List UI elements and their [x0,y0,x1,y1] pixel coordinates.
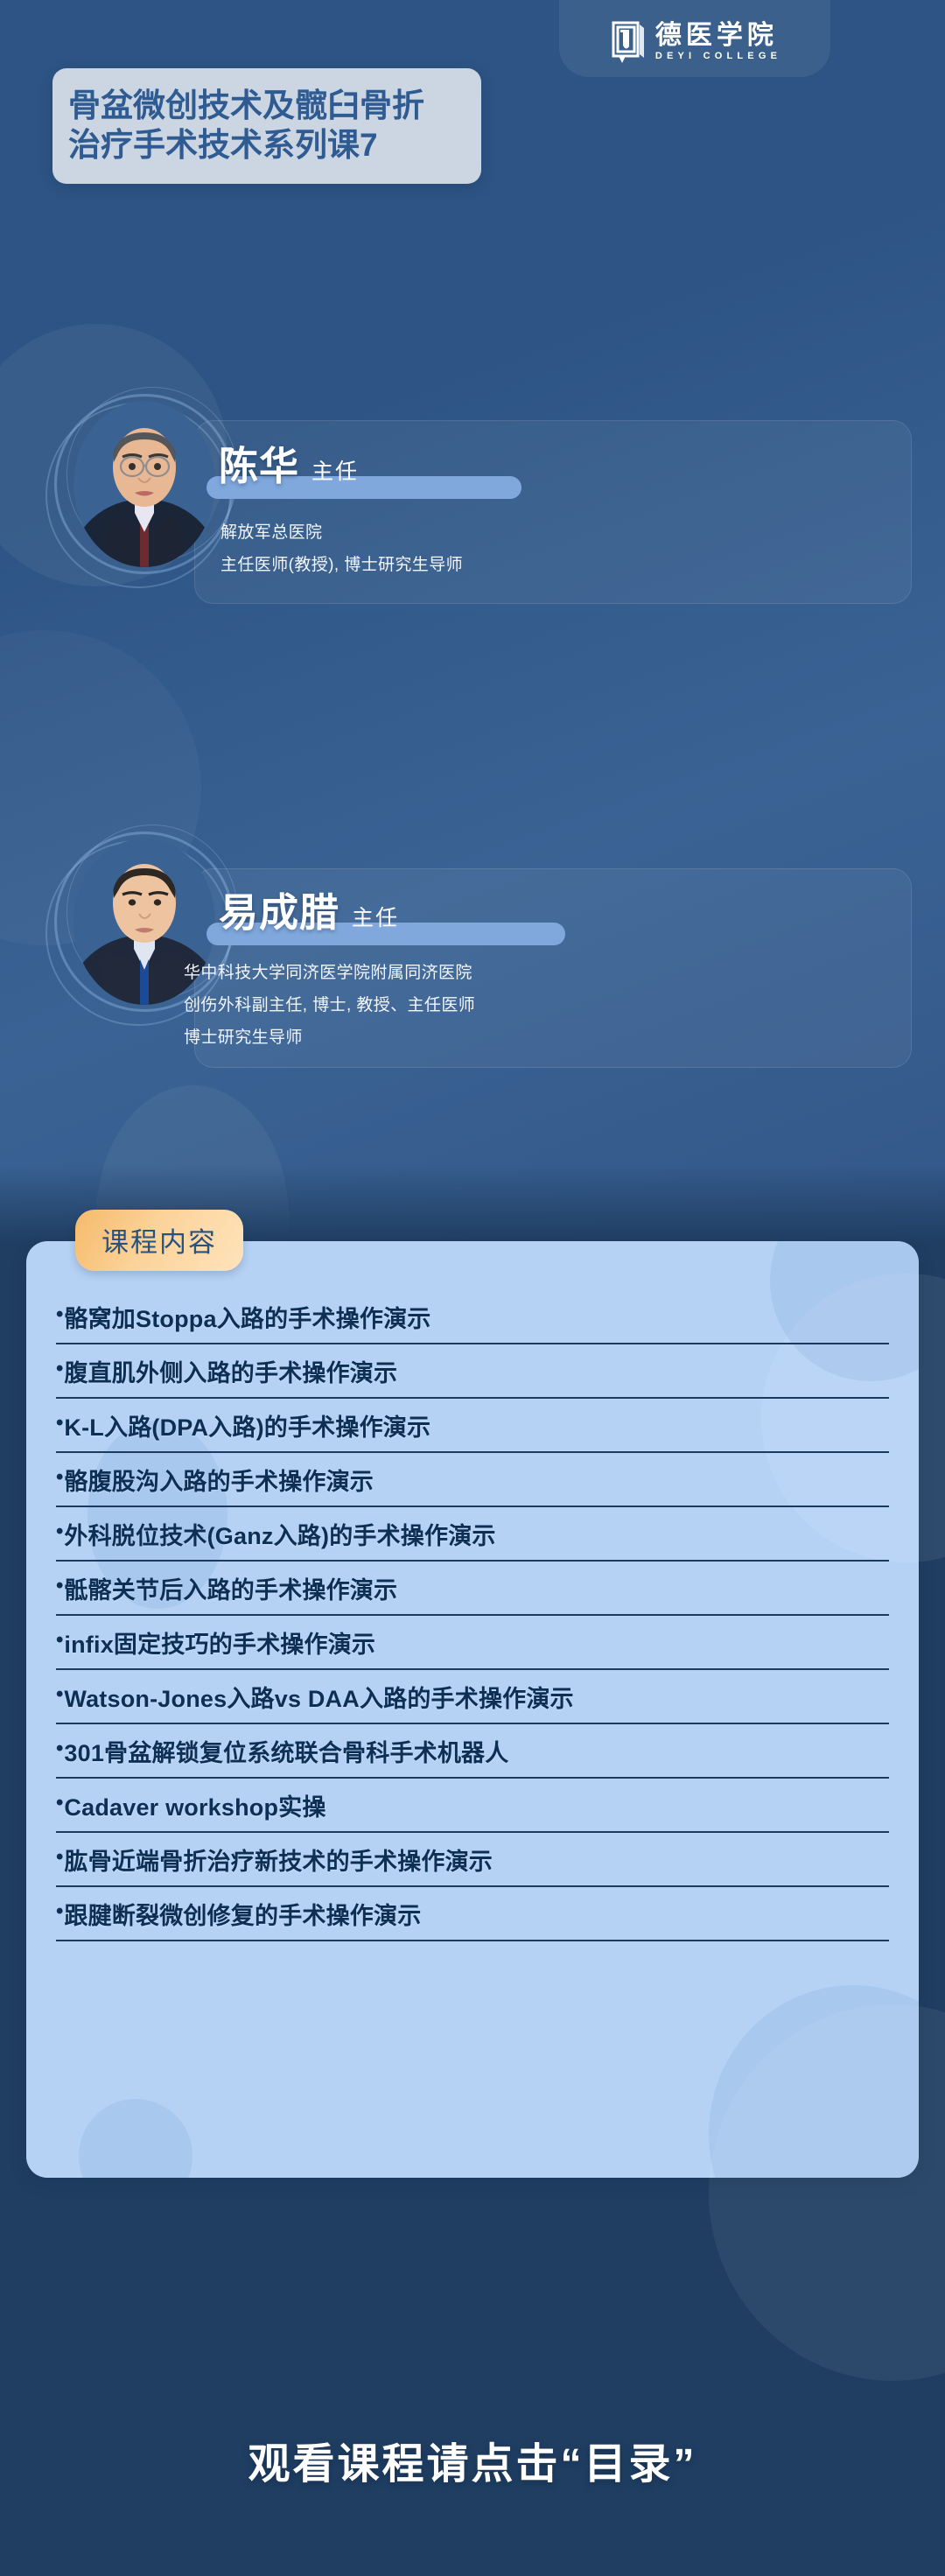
course-item-label: 腹直肌外侧入路的手术操作演示 [64,1354,397,1388]
title-line-1: 骨盆微创技术及髋臼骨折 [68,86,465,125]
list-item[interactable]: •Cadaver workshop实操 [56,1779,889,1833]
course-item-label: 肱骨近端骨折治疗新技术的手术操作演示 [64,1843,493,1877]
title-line-2: 治疗手术技术系列课7 [68,125,465,165]
list-item[interactable]: •骶髂关节后入路的手术操作演示 [56,1562,889,1616]
bullet-icon: • [56,1847,63,1868]
footer-cta-label: 观看课程请点击“目录” [248,2441,696,2488]
list-item[interactable]: •外科脱位技术(Ganz入路)的手术操作演示 [56,1507,889,1562]
list-item[interactable]: •K-L入路(DPA入路)的手术操作演示 [56,1399,889,1453]
bullet-icon: • [56,1521,63,1542]
speaker-name: 易成腊 [219,893,339,932]
bullet-icon: • [56,1413,63,1434]
speaker-meta-line: 解放军总医院 [220,516,463,549]
speaker-meta-line: 博士研究生导师 [184,1021,475,1054]
list-item[interactable]: •骼窝加Stoppa入路的手术操作演示 [56,1290,889,1344]
bullet-icon: • [56,1793,63,1814]
course-item-label: 骼窝加Stoppa入路的手术操作演示 [64,1300,430,1334]
course-item-label: 跟腱断裂微创修复的手术操作演示 [64,1897,421,1931]
course-list: •骼窝加Stoppa入路的手术操作演示 •腹直肌外侧入路的手术操作演示 •K-L… [26,1241,919,1941]
course-item-label: Cadaver workshop实操 [64,1788,325,1822]
speaker-role: 主任 [352,908,399,932]
brand-name-cn: 德医学院 [655,23,778,49]
course-content-badge-label: 课程内容 [101,1227,217,1258]
list-item[interactable]: •Watson-Jones入路vs DAA入路的手术操作演示 [56,1670,889,1724]
page-title: 骨盆微创技术及髋臼骨折 治疗手术技术系列课7 [52,68,481,184]
speaker-name: 陈华 [219,446,299,486]
book-logo-icon [608,19,647,65]
bullet-icon: • [56,1738,63,1759]
list-item[interactable]: •infix固定技巧的手术操作演示 [56,1616,889,1670]
bullet-icon: • [56,1467,63,1488]
course-content-badge: 课程内容 [75,1210,243,1271]
list-item[interactable]: •肱骨近端骨折治疗新技术的手术操作演示 [56,1833,889,1887]
footer-cta: 观看课程请点击“目录” [0,2429,945,2490]
bullet-icon: • [56,1576,63,1597]
course-item-label: 301骨盆解锁复位系统联合骨科手术机器人 [64,1734,508,1768]
speaker-meta-line: 华中科技大学同济医学院附属同济医院 [184,957,475,989]
speaker-card: 易成腊 主任 华中科技大学同济医学院附属同济医院 创伤外科副主任, 博士, 教授… [0,823,945,1199]
course-item-label: infix固定技巧的手术操作演示 [64,1625,375,1660]
decor-blob [79,2099,192,2178]
course-item-label: 外科脱位技术(Ganz入路)的手术操作演示 [64,1517,495,1551]
decor-blob [709,1985,919,2178]
poster-root: 德医学院 DEYI COLLEGE 骨盆微创技术及髋臼骨折 治疗手术技术系列课7 [0,0,945,2576]
course-item-label: Watson-Jones入路vs DAA入路的手术操作演示 [64,1680,573,1714]
brand-logo: 德医学院 DEYI COLLEGE [559,0,830,77]
course-item-label: K-L入路(DPA入路)的手术操作演示 [64,1408,430,1442]
bullet-icon: • [56,1358,63,1379]
speaker-card: 陈华 主任 解放军总医院 主任医师(教授), 博士研究生导师 [0,394,945,762]
bullet-icon: • [56,1901,63,1922]
bullet-icon: • [56,1684,63,1705]
brand-name-en: DEYI COLLEGE [655,52,781,61]
list-item[interactable]: •骼腹股沟入路的手术操作演示 [56,1453,889,1507]
speaker-role: 主任 [311,461,359,486]
course-item-label: 骼腹股沟入路的手术操作演示 [64,1463,374,1497]
list-item[interactable]: •跟腱断裂微创修复的手术操作演示 [56,1887,889,1941]
list-item[interactable]: •301骨盆解锁复位系统联合骨科手术机器人 [56,1724,889,1779]
bullet-icon: • [56,1630,63,1651]
course-item-label: 骶髂关节后入路的手术操作演示 [64,1571,397,1605]
speaker-meta-line: 创伤外科副主任, 博士, 教授、主任医师 [184,989,475,1021]
bullet-icon: • [56,1304,63,1325]
list-item[interactable]: •腹直肌外侧入路的手术操作演示 [56,1344,889,1399]
speaker-meta-line: 主任医师(教授), 博士研究生导师 [220,549,463,581]
course-content-card: •骼窝加Stoppa入路的手术操作演示 •腹直肌外侧入路的手术操作演示 •K-L… [26,1241,919,2178]
